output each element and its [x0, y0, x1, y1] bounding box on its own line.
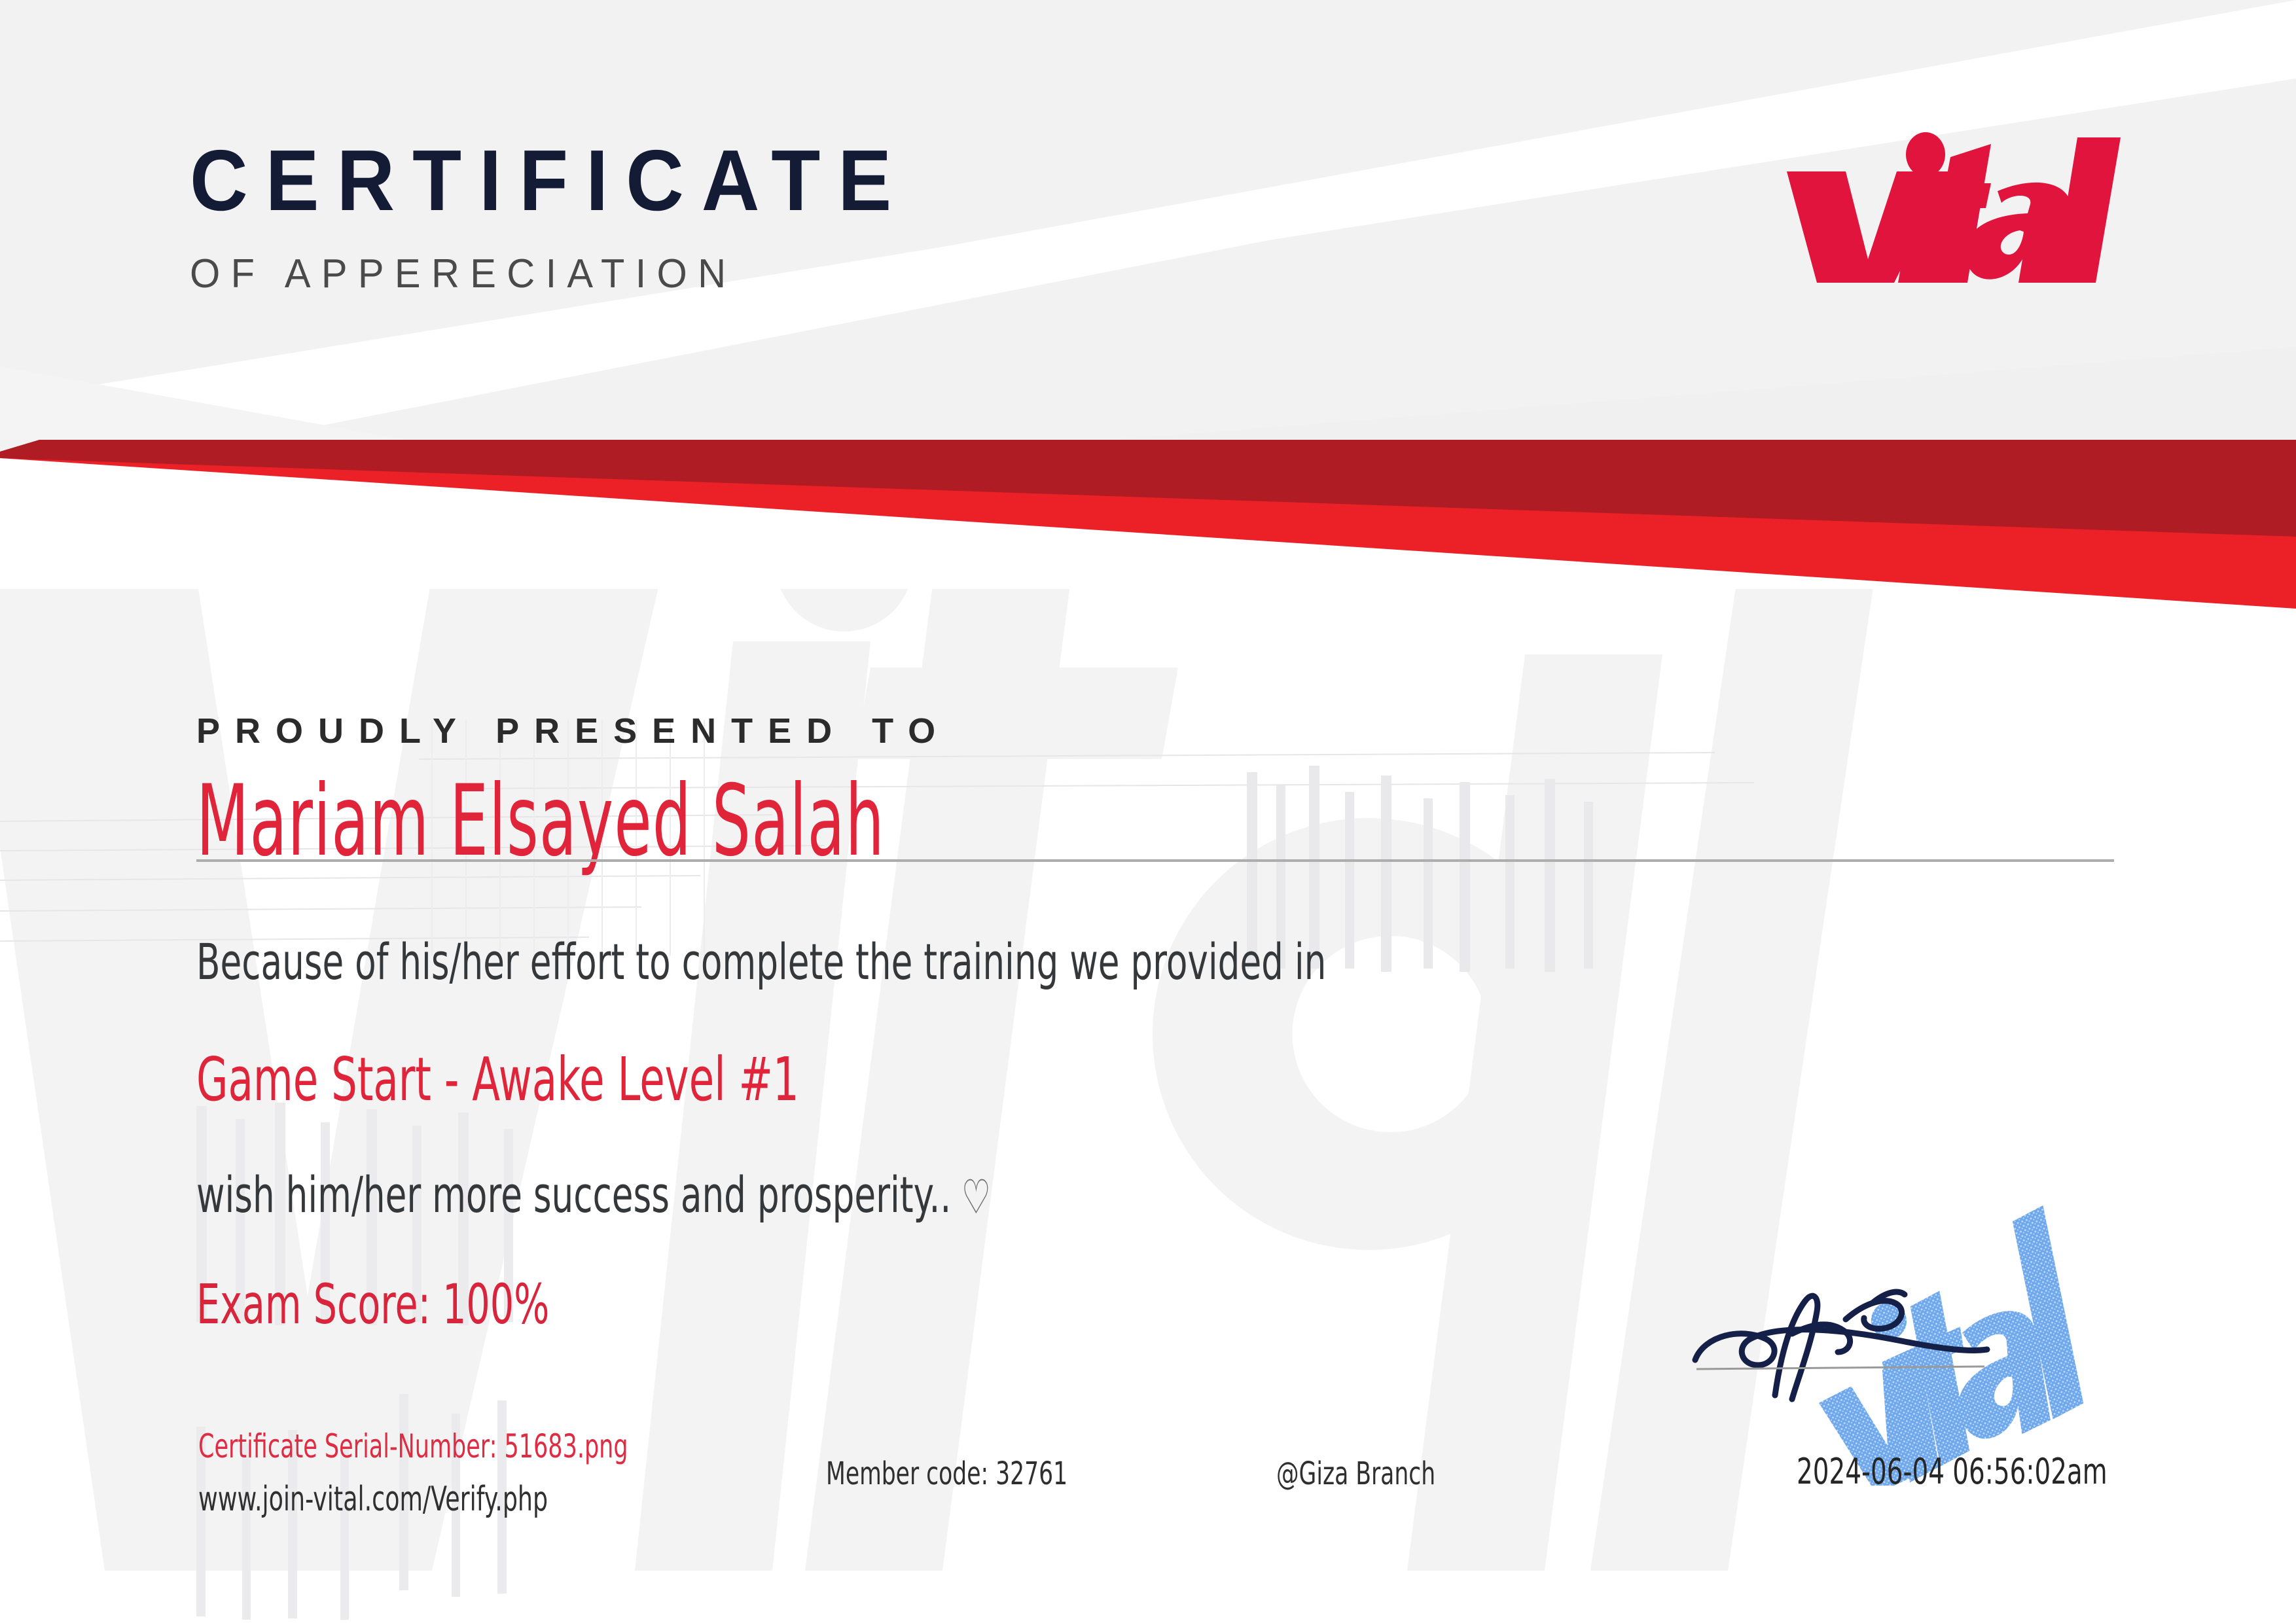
- vital-logo: [1775, 131, 2128, 294]
- serial-block: Certificate Serial-Number: 51683.png www…: [198, 1430, 812, 1516]
- recipient-name: Mariam Elsayed Salah: [196, 768, 885, 874]
- presented-to-label: PROUDLY PRESENTED TO: [196, 713, 2160, 749]
- wish-line-row: wish him/her more success and prosperity…: [196, 1170, 1571, 1221]
- exam-score: Exam Score: 100%: [196, 1277, 1532, 1332]
- name-underline-rule: [196, 859, 2114, 862]
- member-code: Member code: 32761: [826, 1458, 1067, 1489]
- branch-name: @Giza Branch: [1276, 1458, 1435, 1489]
- heart-icon: ♡: [951, 1173, 991, 1221]
- recipient-name-row: Mariam Elsayed Salah: [196, 772, 2160, 877]
- reason-line: Because of his/her effort to complete th…: [196, 937, 1571, 987]
- wish-line-text: wish him/her more success and prosperity…: [196, 1166, 951, 1224]
- course-title: Game Start - Awake Level #1: [196, 1050, 1532, 1110]
- certificate-serial-number: Certificate Serial-Number: 51683.png: [198, 1430, 628, 1463]
- certificate-page: CERTIFICATE OF APPERECIATION: [0, 0, 2296, 1623]
- authorized-signature: [1682, 1224, 2049, 1440]
- title-block: CERTIFICATE OF APPERECIATION: [190, 137, 963, 294]
- stamp-and-signature: [1708, 1204, 2166, 1486]
- verify-url-link[interactable]: www.join-vital.com/Verify.php: [198, 1482, 628, 1516]
- page-title: CERTIFICATE: [190, 137, 909, 224]
- certificate-header: CERTIFICATE OF APPERECIATION: [0, 0, 2296, 445]
- issued-date: 2024-06-04 06:56:02am: [1797, 1454, 2108, 1489]
- page-subtitle: OF APPERECIATION: [190, 254, 933, 294]
